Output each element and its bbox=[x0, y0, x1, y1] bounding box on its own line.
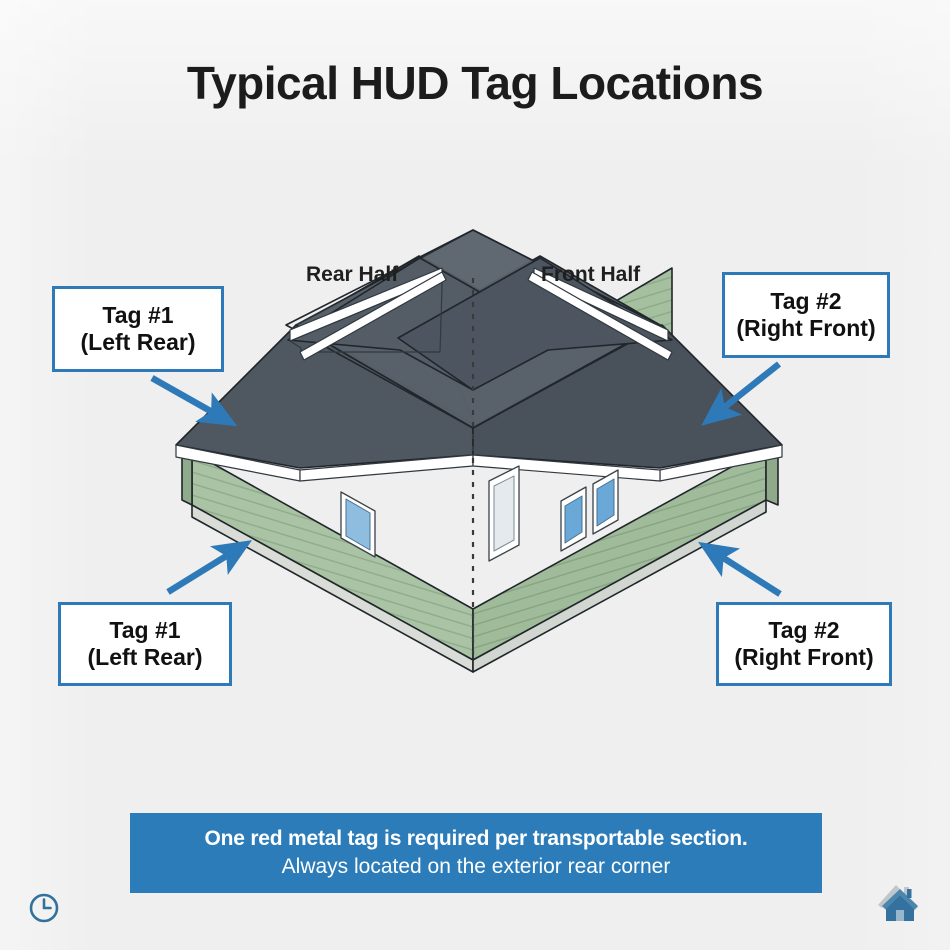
clock-icon bbox=[26, 890, 62, 926]
window-front-right-a bbox=[561, 487, 586, 551]
callout-line-1: Tag #2 bbox=[770, 288, 841, 315]
callout-tag-2-top-right[interactable]: Tag #2 (Right Front) bbox=[722, 272, 890, 358]
rear-wing-front-wall bbox=[192, 452, 473, 672]
callout-line-1: Tag #1 bbox=[109, 617, 180, 644]
entry-door bbox=[489, 466, 519, 561]
banner-line-2: Always located on the exterior rear corn… bbox=[282, 855, 671, 879]
callout-tag-1-bottom-left[interactable]: Tag #1 (Left Rear) bbox=[58, 602, 232, 686]
callout-line-2: (Right Front) bbox=[736, 315, 875, 342]
callout-line-2: (Right Front) bbox=[734, 644, 873, 671]
callout-line-2: (Left Rear) bbox=[87, 644, 202, 671]
callout-tag-1-top-left[interactable]: Tag #1 (Left Rear) bbox=[52, 286, 224, 372]
page-canvas: Typical HUD Tag Locations bbox=[0, 0, 950, 950]
house-body bbox=[176, 230, 782, 672]
page-title: Typical HUD Tag Locations bbox=[0, 56, 950, 110]
section-label-front-half: Front Half bbox=[541, 263, 640, 287]
callout-tag-2-bottom-right[interactable]: Tag #2 (Right Front) bbox=[716, 602, 892, 686]
banner-line-1: One red metal tag is required per transp… bbox=[204, 827, 747, 851]
footer-banner: One red metal tag is required per transp… bbox=[130, 813, 822, 893]
callout-line-1: Tag #1 bbox=[102, 302, 173, 329]
callout-line-1: Tag #2 bbox=[768, 617, 839, 644]
house-illustration bbox=[0, 0, 950, 950]
window-front-right-b bbox=[593, 470, 618, 534]
section-label-rear-half: Rear Half bbox=[306, 263, 398, 287]
callout-line-2: (Left Rear) bbox=[80, 329, 195, 356]
home-icon bbox=[874, 878, 926, 928]
